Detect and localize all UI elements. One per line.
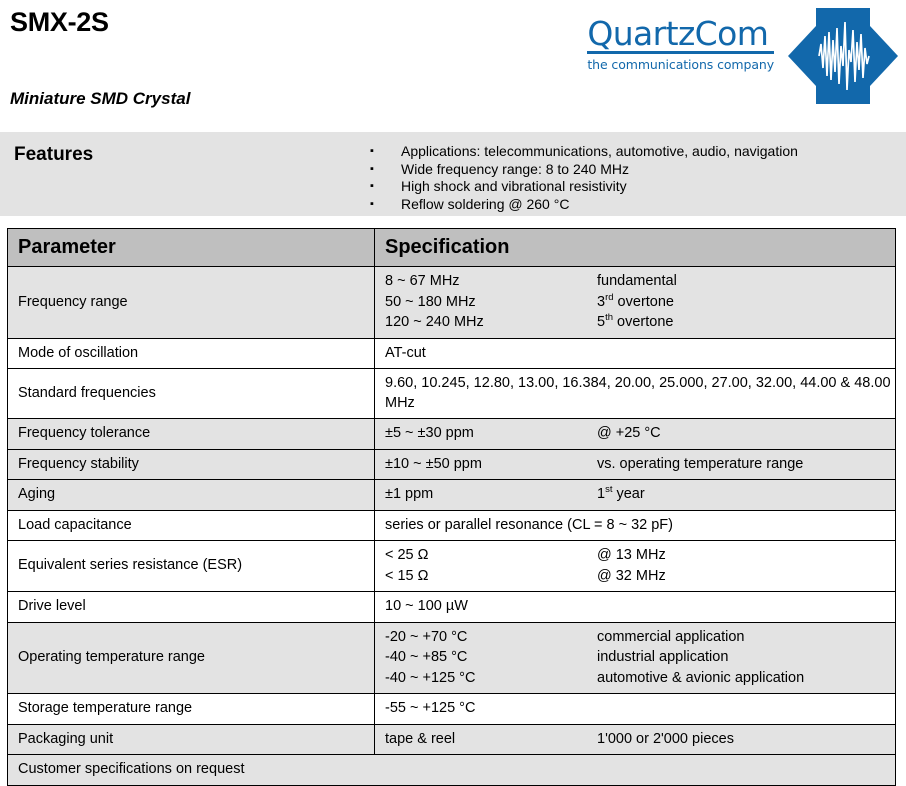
table-header-row: Parameter Specification — [8, 229, 896, 267]
spec-value: < 15 Ω — [385, 567, 597, 587]
spec-condition: fundamental — [597, 272, 895, 292]
cell-specification: -20 ~ +70 °Ccommercial application-40 ~ … — [375, 622, 896, 694]
table-row: Mode of oscillationAT-cut — [8, 338, 896, 369]
brand-logo: QuartzCom the communications company — [587, 6, 898, 106]
table-body: Frequency range8 ~ 67 MHzfundamental50 ~… — [8, 267, 896, 786]
spec-condition: 1'000 or 2'000 pieces — [597, 730, 895, 750]
spec-value: < 25 Ω — [385, 546, 597, 566]
cell-specification: tape & reel1'000 or 2'000 pieces — [375, 724, 896, 755]
spec-value: AT-cut — [385, 344, 597, 364]
column-header-specification: Specification — [375, 229, 896, 267]
spec-line: 50 ~ 180 MHz3rd overtone — [385, 293, 895, 313]
spec-condition: 5th overtone — [597, 313, 895, 333]
spec-value: 120 ~ 240 MHz — [385, 313, 597, 333]
spec-line: ±1 ppm1st year — [385, 485, 895, 505]
spec-value: -55 ~ +125 °C — [385, 699, 597, 719]
cell-specification: AT-cut — [375, 338, 896, 369]
cell-specification: < 25 Ω@ 13 MHz< 15 Ω@ 32 MHz — [375, 541, 896, 592]
cell-parameter: Mode of oscillation — [8, 338, 375, 369]
spec-line: -20 ~ +70 °Ccommercial application — [385, 628, 895, 648]
table-row: Frequency tolerance±5 ~ ±30 ppm@ +25 °C — [8, 419, 896, 450]
table-row: Aging±1 ppm1st year — [8, 480, 896, 511]
bullet-icon: ▪ — [370, 161, 374, 179]
cell-parameter: Load capacitance — [8, 510, 375, 541]
brand-name: QuartzCom — [587, 18, 774, 50]
page-subtitle: Miniature SMD Crystal — [10, 89, 190, 109]
cell-parameter: Frequency stability — [8, 449, 375, 480]
list-item: ▪Wide frequency range: 8 to 240 MHz — [370, 161, 798, 179]
features-heading: Features — [14, 144, 93, 166]
spec-condition: @ +25 °C — [597, 424, 895, 444]
cell-parameter: Storage temperature range — [8, 694, 375, 725]
table-row: Standard frequencies9.60, 10.245, 12.80,… — [8, 369, 896, 419]
spec-line: tape & reel1'000 or 2'000 pieces — [385, 730, 895, 750]
page-header: SMX-2S Miniature SMD Crystal QuartzCom t… — [0, 0, 906, 126]
spec-line: 8 ~ 67 MHzfundamental — [385, 272, 895, 292]
spec-condition: automotive & avionic application — [597, 669, 895, 689]
spec-condition: @ 32 MHz — [597, 567, 895, 587]
spec-line: -55 ~ +125 °C — [385, 699, 895, 719]
feature-text: Wide frequency range: 8 to 240 MHz — [401, 161, 629, 177]
waveform-logo-icon — [788, 6, 898, 106]
cell-parameter: Equivalent series resistance (ESR) — [8, 541, 375, 592]
spec-value: -40 ~ +85 °C — [385, 648, 597, 668]
spec-condition: 3rd overtone — [597, 293, 895, 313]
spec-value: ±1 ppm — [385, 485, 597, 505]
spec-line: -40 ~ +125 °Cautomotive & avionic applic… — [385, 669, 895, 689]
cell-parameter: Packaging unit — [8, 724, 375, 755]
cell-specification: -55 ~ +125 °C — [375, 694, 896, 725]
spec-condition — [597, 344, 895, 364]
cell-parameter: Frequency range — [8, 267, 375, 339]
spec-condition — [597, 699, 895, 719]
spec-value: -20 ~ +70 °C — [385, 628, 597, 648]
bullet-icon: ▪ — [370, 196, 374, 214]
cell-parameter: Frequency tolerance — [8, 419, 375, 450]
spec-value: 50 ~ 180 MHz — [385, 293, 597, 313]
cell-specification: ±1 ppm1st year — [375, 480, 896, 511]
column-header-parameter: Parameter — [8, 229, 375, 267]
feature-text: High shock and vibrational resistivity — [401, 178, 627, 194]
cell-specification: 8 ~ 67 MHzfundamental50 ~ 180 MHz3rd ove… — [375, 267, 896, 339]
cell-specification: 10 ~ 100 µW — [375, 592, 896, 623]
spec-condition — [597, 597, 895, 617]
feature-text: Reflow soldering @ 260 °C — [401, 196, 569, 212]
table-footer-row: Customer specifications on request — [8, 755, 896, 786]
table-row: Operating temperature range-20 ~ +70 °Cc… — [8, 622, 896, 694]
spec-line: < 15 Ω@ 32 MHz — [385, 567, 895, 587]
spec-value: tape & reel — [385, 730, 597, 750]
features-band: Features ▪Applications: telecommunicatio… — [0, 132, 906, 216]
spec-condition: vs. operating temperature range — [597, 455, 895, 475]
list-item: ▪Reflow soldering @ 260 °C — [370, 196, 798, 214]
spec-value: 8 ~ 67 MHz — [385, 272, 597, 292]
cell-parameter: Drive level — [8, 592, 375, 623]
spec-line: < 25 Ω@ 13 MHz — [385, 546, 895, 566]
feature-text: Applications: telecommunications, automo… — [401, 143, 798, 159]
spec-value: -40 ~ +125 °C — [385, 669, 597, 689]
features-list: ▪Applications: telecommunications, autom… — [370, 143, 798, 213]
cell-specification: 9.60, 10.245, 12.80, 13.00, 16.384, 20.0… — [375, 369, 896, 419]
table-row: Frequency stability±10 ~ ±50 ppmvs. oper… — [8, 449, 896, 480]
spec-value: 10 ~ 100 µW — [385, 597, 597, 617]
spec-condition: 1st year — [597, 485, 895, 505]
cell-parameter: Aging — [8, 480, 375, 511]
spec-line: ±5 ~ ±30 ppm@ +25 °C — [385, 424, 895, 444]
spec-line: 120 ~ 240 MHz5th overtone — [385, 313, 895, 333]
spec-value: ±5 ~ ±30 ppm — [385, 424, 597, 444]
brand-tagline: the communications company — [587, 57, 774, 72]
cell-customer-note: Customer specifications on request — [8, 755, 896, 786]
list-item: ▪Applications: telecommunications, autom… — [370, 143, 798, 161]
bullet-icon: ▪ — [370, 143, 374, 161]
bullet-icon: ▪ — [370, 178, 374, 196]
spec-condition: commercial application — [597, 628, 895, 648]
table-row: Packaging unittape & reel1'000 or 2'000 … — [8, 724, 896, 755]
spec-condition: @ 13 MHz — [597, 546, 895, 566]
table-row: Frequency range8 ~ 67 MHzfundamental50 ~… — [8, 267, 896, 339]
brand-logo-text: QuartzCom the communications company — [587, 6, 788, 72]
title-block: SMX-2S Miniature SMD Crystal — [10, 8, 109, 36]
page-title: SMX-2S — [10, 8, 109, 36]
spec-line: AT-cut — [385, 344, 895, 364]
spec-line: 10 ~ 100 µW — [385, 597, 895, 617]
specification-table: Parameter Specification Frequency range8… — [7, 228, 896, 786]
spec-condition: industrial application — [597, 648, 895, 668]
table-row: Load capacitanceseries or parallel reson… — [8, 510, 896, 541]
spec-line: -40 ~ +85 °Cindustrial application — [385, 648, 895, 668]
cell-specification: ±10 ~ ±50 ppmvs. operating temperature r… — [375, 449, 896, 480]
cell-parameter: Standard frequencies — [8, 369, 375, 419]
list-item: ▪High shock and vibrational resistivity — [370, 178, 798, 196]
table-row: Drive level10 ~ 100 µW — [8, 592, 896, 623]
cell-specification: ±5 ~ ±30 ppm@ +25 °C — [375, 419, 896, 450]
cell-specification: series or parallel resonance (CL = 8 ~ 3… — [375, 510, 896, 541]
table-row: Storage temperature range-55 ~ +125 °C — [8, 694, 896, 725]
table-row: Equivalent series resistance (ESR)< 25 Ω… — [8, 541, 896, 592]
spec-value: ±10 ~ ±50 ppm — [385, 455, 597, 475]
cell-parameter: Operating temperature range — [8, 622, 375, 694]
spec-line: ±10 ~ ±50 ppmvs. operating temperature r… — [385, 455, 895, 475]
